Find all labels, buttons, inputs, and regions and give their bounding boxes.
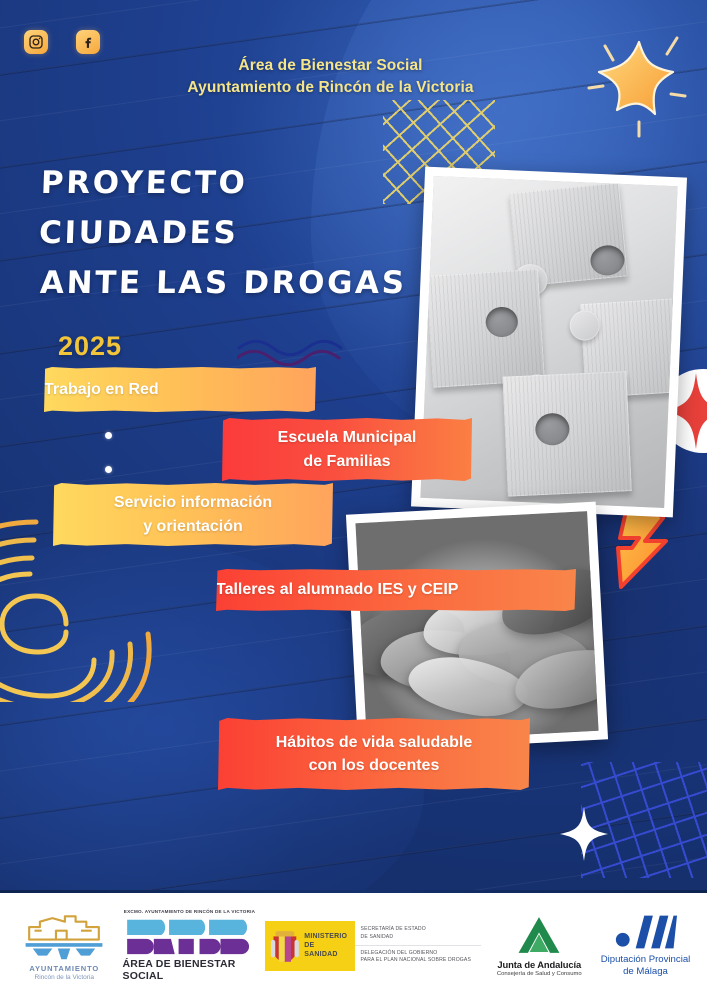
ayuntamiento-crest-icon — [16, 911, 112, 961]
logo-ayuntamiento-name: AYUNTAMIENTO — [29, 964, 99, 973]
title-line-1: PROYECTO CIUDADES — [38, 158, 442, 258]
delegacion-line-1: DELEGACIÓN DEL GOBIERNO — [361, 950, 475, 957]
program-label-2: y orientación — [67, 515, 319, 538]
program-chip-trabajo-en-red: Trabajo en Red — [44, 367, 316, 412]
program-label-2: de Familias — [238, 450, 456, 473]
program-label: Hábitos de vida saludable — [230, 731, 518, 754]
logo-diputacion-malaga: Diputación Provincial de Málaga — [594, 913, 697, 979]
junta-name: Junta de Andalucía — [497, 959, 581, 970]
photo-hands-image — [355, 511, 598, 743]
title-line-2: ANTE LAS DROGAS — [39, 258, 441, 308]
diputacion-name-line-1: Diputación Provincial — [601, 954, 691, 966]
program-label: Trabajo en Red — [44, 378, 316, 401]
program-chip-habitos-saludables: Hábitos de vida saludable con los docent… — [218, 718, 530, 790]
secretaria-line-1: SECRETARÍA DE ESTADO — [361, 926, 475, 933]
instagram-icon[interactable] — [24, 30, 48, 54]
logo-ayuntamiento-rincon: AYUNTAMIENTO Rincón de la Victoria — [10, 911, 119, 981]
poster-title: PROYECTO CIUDADES ANTE LAS DROGAS 2025 — [40, 158, 440, 362]
header-line-1: Área de Bienestar Social — [0, 55, 661, 77]
bullet-dot — [105, 432, 112, 439]
social-links — [24, 30, 100, 54]
ministerio-yellow-block: MINISTERIO DE SANIDAD — [265, 921, 355, 971]
logo-ministerio-sanidad: MINISTERIO DE SANIDAD SECRETARÍA DE ESTA… — [265, 921, 481, 971]
logo-ayuntamiento-subtitle: Rincón de la Victoria — [35, 974, 95, 981]
logo-junta-andalucia: Junta de Andalucía Consejería de Salud y… — [491, 914, 588, 977]
logo-abs-top-text: EXCMO. AYUNTAMIENTO DE RINCÓN DE LA VICT… — [124, 909, 255, 914]
diputacion-malaga-m-icon — [615, 913, 677, 951]
ministerio-name-line-2: DE SANIDAD — [304, 941, 349, 959]
program-label-2: con los docentes — [230, 754, 518, 777]
facebook-icon[interactable] — [76, 30, 100, 54]
title-year: 2025 — [58, 331, 440, 362]
program-chip-escuela-familias: Escuela Municipal de Familias — [222, 418, 472, 481]
program-label: Talleres al alumnado IES y CEIP — [216, 578, 576, 601]
program-label: Escuela Municipal — [238, 426, 456, 449]
program-chip-talleres-alumnado: Talleres al alumnado IES y CEIP — [216, 569, 576, 611]
junta-andalucia-a-icon — [516, 914, 562, 956]
photo-hands-together — [346, 502, 608, 753]
bullet-dot — [105, 466, 112, 473]
logo-abs-name: ÁREA DE BIENESTAR SOCIAL — [123, 958, 257, 982]
delegacion-line-2: PARA EL PLAN NACIONAL SOBRE DROGAS — [361, 957, 475, 964]
footer-logo-bar: AYUNTAMIENTO Rincón de la Victoria EXCMO… — [0, 893, 707, 1000]
logo-area-bienestar-social: EXCMO. AYUNTAMIENTO DE RINCÓN DE LA VICT… — [123, 909, 257, 982]
secretaria-line-2: DE SANIDAD — [361, 934, 475, 941]
area-bienestar-mark-icon — [123, 916, 257, 956]
poster-root: Área de Bienestar Social Ayuntamiento de… — [0, 0, 707, 1000]
diputacion-name-line-2: de Málaga — [601, 966, 691, 978]
program-label: Servicio información — [67, 491, 319, 514]
spain-coat-of-arms-icon — [270, 926, 300, 966]
program-chip-servicio-informacion: Servicio información y orientación — [53, 483, 333, 546]
ministerio-name-line-1: MINISTERIO — [304, 932, 349, 941]
header-line-2: Ayuntamiento de Rincón de la Victoria — [0, 77, 661, 99]
organization-header: Área de Bienestar Social Ayuntamiento de… — [0, 55, 707, 100]
ministerio-white-block: SECRETARÍA DE ESTADO DE SANIDAD DELEGACI… — [355, 921, 481, 971]
junta-subtitle: Consejería de Salud y Consumo — [497, 971, 582, 977]
